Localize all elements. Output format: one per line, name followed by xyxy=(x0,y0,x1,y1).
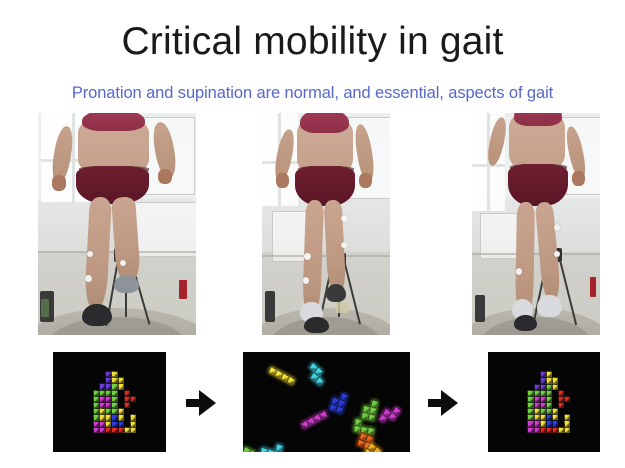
tetris-block xyxy=(564,420,570,426)
running-shorts xyxy=(76,166,149,204)
shoe-right xyxy=(537,295,561,317)
tetris-block xyxy=(527,427,533,433)
arrow-middle-to-right xyxy=(428,390,458,416)
wall-rail xyxy=(472,253,600,255)
floor-equipment xyxy=(336,302,349,313)
fist-left xyxy=(52,175,66,191)
wall-panel xyxy=(272,211,307,262)
tetris-block xyxy=(111,414,117,420)
tetris-stacked-before xyxy=(53,352,166,452)
fist-right xyxy=(359,173,372,189)
tetris-block xyxy=(93,421,99,427)
tetris-block xyxy=(93,414,99,420)
sports-bra xyxy=(300,113,349,133)
tetris-block xyxy=(564,396,570,402)
gait-photo-middle xyxy=(262,113,390,335)
tetris-block xyxy=(540,420,546,426)
reflective-marker xyxy=(341,215,347,222)
shoe-right xyxy=(114,275,139,293)
arrow-head xyxy=(199,390,216,416)
tetris-block xyxy=(111,427,117,433)
tetris-block xyxy=(93,427,99,433)
arrow-head xyxy=(441,390,458,416)
gait-photo-left xyxy=(38,113,196,335)
running-shorts xyxy=(508,164,568,206)
tetris-scattered xyxy=(243,352,410,452)
wall-equipment xyxy=(179,280,187,300)
page-subtitle: Pronation and supination are normal, and… xyxy=(0,84,625,103)
tetris-block xyxy=(558,390,564,396)
running-shorts xyxy=(295,166,355,206)
tetris-block xyxy=(540,427,546,433)
tetris-block xyxy=(558,402,564,408)
tetris-block xyxy=(111,421,117,427)
tetris-block xyxy=(93,390,99,396)
tetris-block xyxy=(111,383,117,389)
floor-equipment xyxy=(41,299,49,317)
tetris-block xyxy=(315,376,325,386)
floor-equipment xyxy=(265,291,275,322)
tetris-block xyxy=(552,384,558,390)
gait-photo-right xyxy=(472,113,600,335)
sports-bra xyxy=(514,113,561,126)
tetris-block xyxy=(552,420,558,426)
wall-equipment xyxy=(590,277,596,297)
tetris-block xyxy=(527,420,533,426)
fist-left xyxy=(276,173,289,189)
tetris-block xyxy=(118,427,124,433)
reflective-marker xyxy=(304,253,310,260)
fist-right xyxy=(158,169,172,185)
tetris-block xyxy=(534,427,540,433)
fist-right xyxy=(572,171,585,187)
tetris-block xyxy=(335,405,344,414)
page-title: Critical mobility in gait xyxy=(0,22,625,63)
tetris-block xyxy=(248,449,257,452)
shoe-left-sole xyxy=(304,317,328,333)
reflective-marker xyxy=(341,242,347,249)
shoe-left xyxy=(82,304,112,326)
tetris-block xyxy=(286,376,295,385)
tetris-block xyxy=(130,427,136,433)
tetris-block xyxy=(130,396,136,402)
reflective-marker xyxy=(554,224,560,231)
sports-bra xyxy=(82,113,145,131)
arrow-left-to-middle xyxy=(186,390,216,416)
tetris-block xyxy=(552,377,558,383)
tetris-block xyxy=(534,420,540,426)
tetris-block xyxy=(130,414,136,420)
tetris-block xyxy=(534,384,540,390)
tetris-block xyxy=(124,402,130,408)
reflective-marker xyxy=(516,268,522,275)
shoe-right xyxy=(326,284,346,302)
tetris-block xyxy=(367,413,375,421)
tetris-block xyxy=(540,390,546,396)
tetris-block xyxy=(118,421,124,427)
tetris-block xyxy=(540,377,546,383)
tetris-block xyxy=(527,390,533,396)
floor-equipment xyxy=(475,295,485,322)
tetris-block xyxy=(130,421,136,427)
reflective-marker xyxy=(85,275,91,282)
photo-right-scene xyxy=(472,113,600,335)
photo-middle-scene xyxy=(262,113,390,335)
tetris-block xyxy=(118,383,124,389)
tetris-block xyxy=(546,390,552,396)
shoe-left-sole xyxy=(514,315,537,331)
tetris-block xyxy=(118,414,124,420)
tetris-block xyxy=(540,384,546,390)
tetris-stacked-after xyxy=(488,352,600,452)
tetris-block xyxy=(111,390,117,396)
tetris-block xyxy=(564,427,570,433)
tetris-block xyxy=(534,390,540,396)
photo-left-scene xyxy=(38,113,196,335)
tetris-block xyxy=(124,390,130,396)
